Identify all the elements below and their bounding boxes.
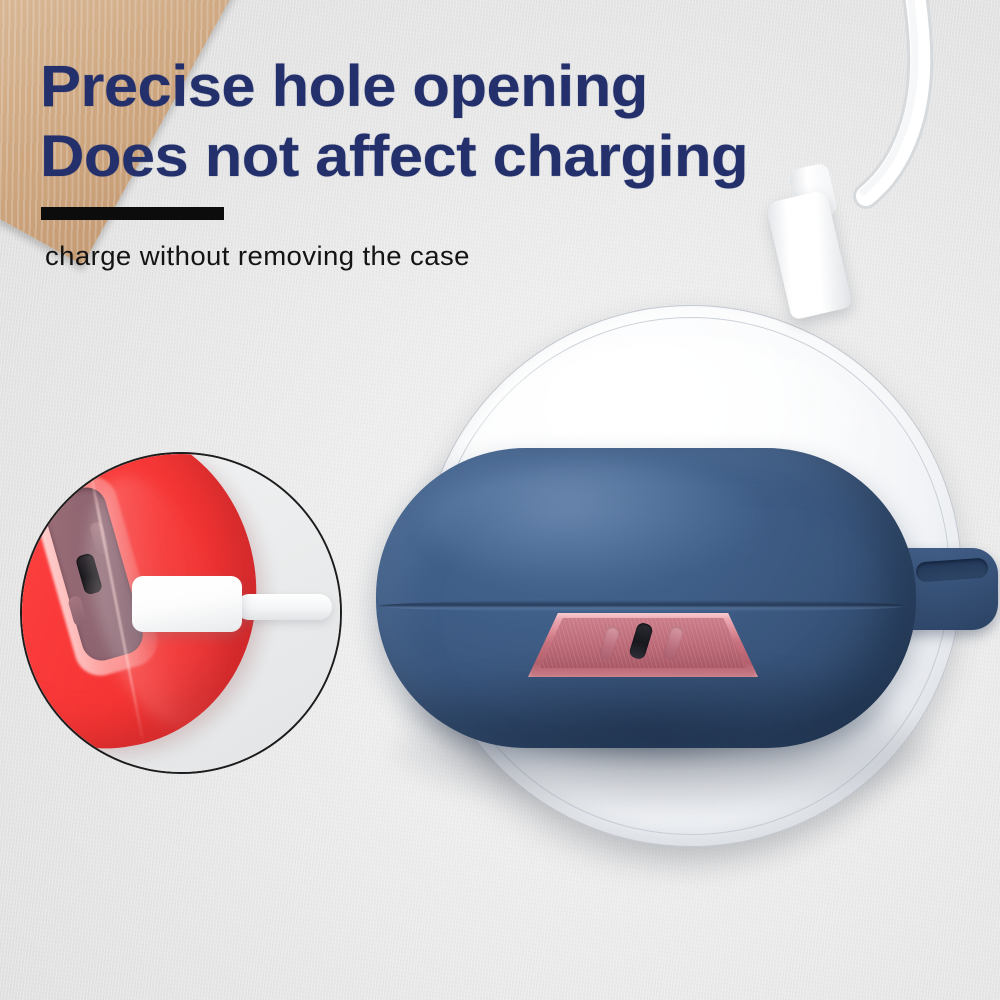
case-top-highlight <box>424 462 764 582</box>
inset-usb-c-connector <box>132 576 242 632</box>
zoom-detail-circle <box>20 452 342 774</box>
headline-block: Precise hole opening Does not affect cha… <box>40 52 920 192</box>
divider-bar <box>41 207 224 220</box>
inset-cable-wire <box>236 594 332 620</box>
headline-line-1: Precise hole opening <box>40 52 973 122</box>
case-hinge-seam <box>379 600 907 612</box>
headline-line-2: Does not affect charging <box>40 122 973 192</box>
product-marketing-image: Precise hole opening Does not affect cha… <box>0 0 1000 1000</box>
subtitle-text: charge without removing the case <box>45 241 470 272</box>
